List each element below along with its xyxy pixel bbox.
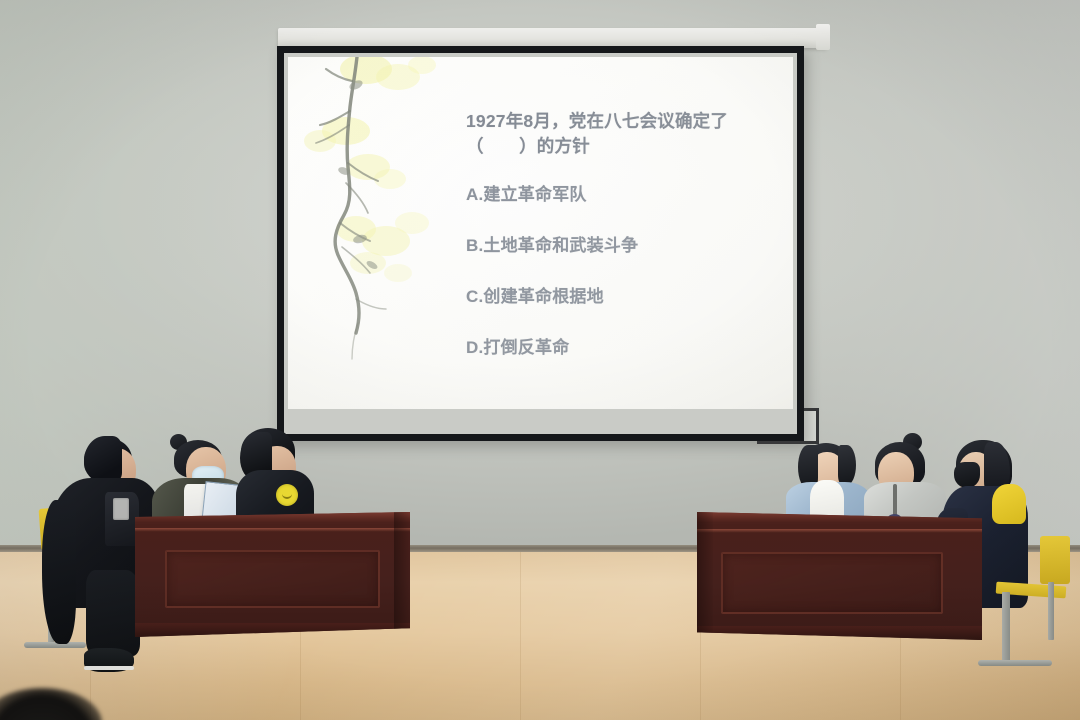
floor-seam	[520, 552, 521, 720]
chair-back-right	[1040, 536, 1070, 584]
question-line-2: （ ）的方针	[466, 134, 786, 158]
chair-foot-right	[978, 660, 1052, 666]
podium-side-shadow	[697, 512, 713, 640]
debate-podium-left	[135, 512, 410, 637]
face-mask-black	[954, 462, 980, 488]
projector-screen-housing-cap	[816, 24, 830, 50]
answer-option-d: D.打倒反革命	[466, 333, 786, 358]
shoe-sole	[84, 666, 134, 670]
jacket-hood-yellow	[992, 484, 1026, 524]
debate-podium-right	[697, 512, 982, 640]
podium-front-panel	[721, 552, 943, 614]
projection-screen-frame: 1927年8月，党在八七会议确定了 （ ）的方针 A.建立革命军队 B.土地革命…	[277, 46, 804, 441]
legs	[86, 570, 140, 656]
podium-front-panel	[165, 550, 380, 608]
answer-options: A.建立革命军队 B.土地革命和武装斗争 C.创建革命根据地 D.打倒反革命	[466, 180, 786, 358]
podium-rail	[135, 528, 410, 532]
chair-leg-right-front	[1002, 592, 1010, 664]
projection-screen-surface: 1927年8月，党在八七会议确定了 （ ）的方针 A.建立革命军队 B.土地革命…	[284, 53, 797, 434]
coat-logo	[113, 498, 129, 520]
ginkgo-branch-watercolor-icon	[294, 57, 464, 391]
classroom-scene: 1927年8月，党在八七会议确定了 （ ）的方针 A.建立革命军队 B.土地革命…	[0, 0, 1080, 720]
slide-text-block: 1927年8月，党在八七会议确定了 （ ）的方针 A.建立革命军队 B.土地革命…	[466, 109, 786, 358]
projector-screen-housing	[278, 28, 826, 48]
chair-foot-left	[24, 642, 86, 648]
answer-option-b: B.土地革命和武装斗争	[466, 231, 786, 256]
answer-option-a: A.建立革命军队	[466, 180, 786, 205]
coat-skirt-drape	[42, 500, 76, 644]
hair-front	[84, 436, 122, 482]
hoodie-drawstring	[893, 484, 897, 518]
podium-side-shadow	[394, 512, 410, 637]
hair-right-side	[838, 445, 856, 485]
podium-rail	[697, 529, 982, 533]
presentation-slide: 1927年8月，党在八七会议确定了 （ ）的方针 A.建立革命军队 B.土地革命…	[288, 57, 793, 409]
question-line-1: 1927年8月，党在八七会议确定了	[466, 109, 786, 133]
answer-option-c: C.创建革命根据地	[466, 282, 786, 307]
chair-leg-right-rear	[1048, 582, 1054, 640]
